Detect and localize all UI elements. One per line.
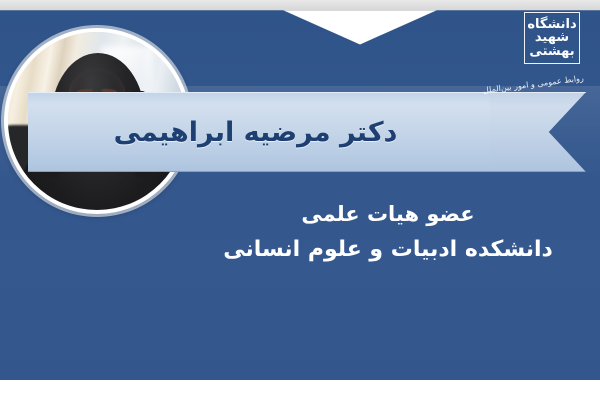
logo-line-1: دانشگاه [527,18,576,31]
university-logo: دانشگاه شهید بهشتی روابط عمومی و امور بی… [496,8,586,90]
subtitle-block: عضو هیات علمی دانشکده ادبیات و علوم انسا… [190,198,586,267]
person-name: دکتر مرضیه ابراهیمی [28,92,483,172]
role-line: عضو هیات علمی [190,198,586,232]
logo-frame: دانشگاه شهید بهشتی [524,12,580,64]
faculty-profile-card: دکتر مرضیه ابراهیمی عضو هیات علمی دانشکد… [0,0,600,400]
logo-line-3: بهشتی [529,45,574,58]
logo-line-2: شهید [535,31,569,44]
faculty-line: دانشکده ادبیات و علوم انسانی [190,232,586,267]
